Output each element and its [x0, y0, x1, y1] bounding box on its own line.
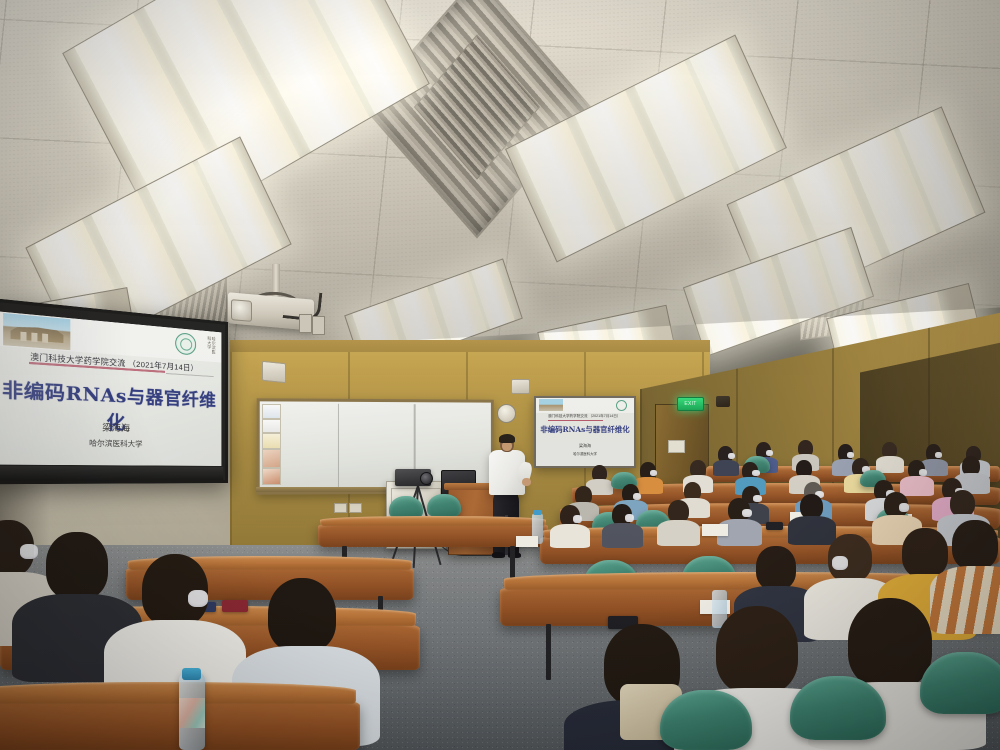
- video-camera: [395, 469, 431, 486]
- secondary-slide-title: 非编码RNAs与器官纤维化: [536, 424, 634, 435]
- desk-leg: [510, 546, 515, 578]
- bottle-label: [179, 698, 205, 728]
- slide-organization: 哈尔滨医科大学: [0, 436, 221, 451]
- secondary-slide-author: 梁海海: [536, 443, 634, 449]
- wall-poster-5: [262, 468, 281, 485]
- projector-junction-box-2: [312, 316, 325, 335]
- wall-clock-icon: [497, 404, 516, 423]
- smartphone[interactable]: [766, 522, 783, 530]
- secondary-slide-underline: [548, 420, 603, 421]
- secondary-seal-icon: [616, 400, 627, 411]
- secondary-projection-screen: 澳门科技大学药学院交流 （2021年7月14日） 非编码RNAs与器官纤维化 梁…: [534, 396, 636, 468]
- chair[interactable]: [660, 690, 752, 750]
- exit-sign-label: EXIT: [684, 401, 696, 407]
- projected-slide: 哈尔滨医科大学 澳门科技大学药学院交流 （2021年7月14日） 非编码RNAs…: [0, 311, 221, 466]
- screen-bottom-bar: [0, 466, 223, 481]
- door-notice-sign: [668, 440, 685, 453]
- wall-speaker-center: [511, 379, 530, 394]
- campus-gate-photo: [3, 313, 70, 350]
- desk-surface: [0, 682, 356, 704]
- slide-seal-caption: 哈尔滨医科大学: [200, 335, 216, 355]
- whiteboard-seam-1: [338, 404, 340, 489]
- chair[interactable]: [790, 676, 886, 740]
- wall-socket-2: [349, 503, 362, 513]
- secondary-campus-photo: [539, 399, 563, 411]
- secondary-slide-header-text: 澳门科技大学药学院交流 （2021年7月14日）: [548, 414, 628, 419]
- bottle-cap: [182, 668, 201, 680]
- desk-surface: [320, 516, 546, 526]
- wall-speaker-left: [262, 361, 286, 384]
- wall-speaker-right: [716, 396, 730, 407]
- secondary-slide-organization: 哈尔滨医科大学: [536, 451, 634, 456]
- presenter-shoe-left: [492, 552, 505, 558]
- wall-poster-2: [262, 419, 281, 433]
- desk-leg: [546, 624, 551, 680]
- lecture-hall-photo: EXIT 哈尔滨医科大学 澳门科技大学药学院交流 （2021年7月14日） 非编…: [0, 0, 1000, 750]
- wall-socket-1: [334, 503, 347, 513]
- handout-paper: [516, 536, 538, 547]
- handout-paper: [702, 524, 728, 536]
- projection-screen: 哈尔滨医科大学 澳门科技大学药学院交流 （2021年7月14日） 非编码RNAs…: [0, 298, 228, 485]
- projector-junction-box-1: [299, 314, 312, 333]
- projector-lens-icon: [231, 299, 252, 322]
- red-case-item[interactable]: [222, 600, 248, 612]
- presenter-hand: [522, 478, 531, 486]
- presenter-hair: [499, 434, 515, 443]
- wall-poster-1: [262, 404, 281, 419]
- chair[interactable]: [427, 494, 461, 517]
- bottle-cap: [533, 510, 542, 515]
- wall-poster-3: [262, 433, 281, 449]
- exit-sign: EXIT: [677, 397, 704, 411]
- wall-poster-4: [262, 449, 281, 468]
